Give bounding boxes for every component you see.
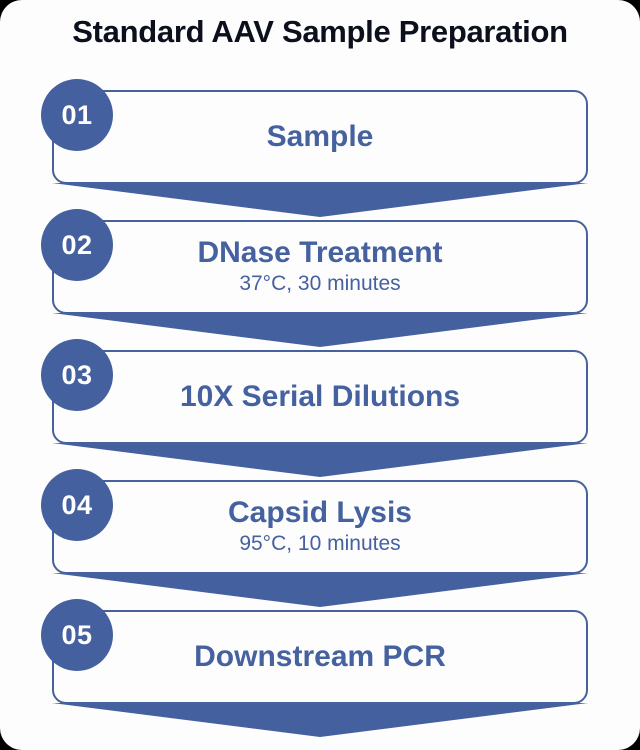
step-connector-arrow-01 (52, 183, 588, 217)
step-number: 04 (61, 492, 92, 519)
step-number-badge-03: 03 (41, 339, 113, 411)
step-box-03[interactable] (52, 350, 588, 444)
workflow-steps-list: Sample 01 DNase Treatment 37°C, 30 minut… (0, 79, 640, 729)
step-number-badge-02: 02 (41, 209, 113, 281)
workflow-step-01[interactable]: Sample 01 (0, 79, 640, 209)
workflow-diagram-card: Standard AAV Sample Preparation Sample 0… (0, 0, 640, 750)
step-number: 03 (61, 362, 92, 389)
step-box-04[interactable] (52, 480, 588, 574)
step-number-badge-01: 01 (41, 79, 113, 151)
step-connector-arrow-02 (52, 313, 588, 347)
step-number: 02 (61, 232, 92, 259)
step-number-badge-04: 04 (41, 469, 113, 541)
workflow-step-04[interactable]: Capsid Lysis 95°C, 10 minutes 04 (0, 469, 640, 599)
step-number: 01 (61, 102, 92, 129)
step-box-02[interactable] (52, 220, 588, 314)
step-connector-arrow-05 (52, 703, 588, 737)
workflow-step-05[interactable]: Downstream PCR 05 (0, 599, 640, 729)
step-box-05[interactable] (52, 610, 588, 704)
step-number-badge-05: 05 (41, 599, 113, 671)
step-box-01[interactable] (52, 90, 588, 184)
workflow-step-03[interactable]: 10X Serial Dilutions 03 (0, 339, 640, 469)
step-connector-arrow-04 (52, 573, 588, 607)
step-number: 05 (61, 622, 92, 649)
step-connector-arrow-03 (52, 443, 588, 477)
workflow-step-02[interactable]: DNase Treatment 37°C, 30 minutes 02 (0, 209, 640, 339)
page-title: Standard AAV Sample Preparation (0, 14, 640, 50)
